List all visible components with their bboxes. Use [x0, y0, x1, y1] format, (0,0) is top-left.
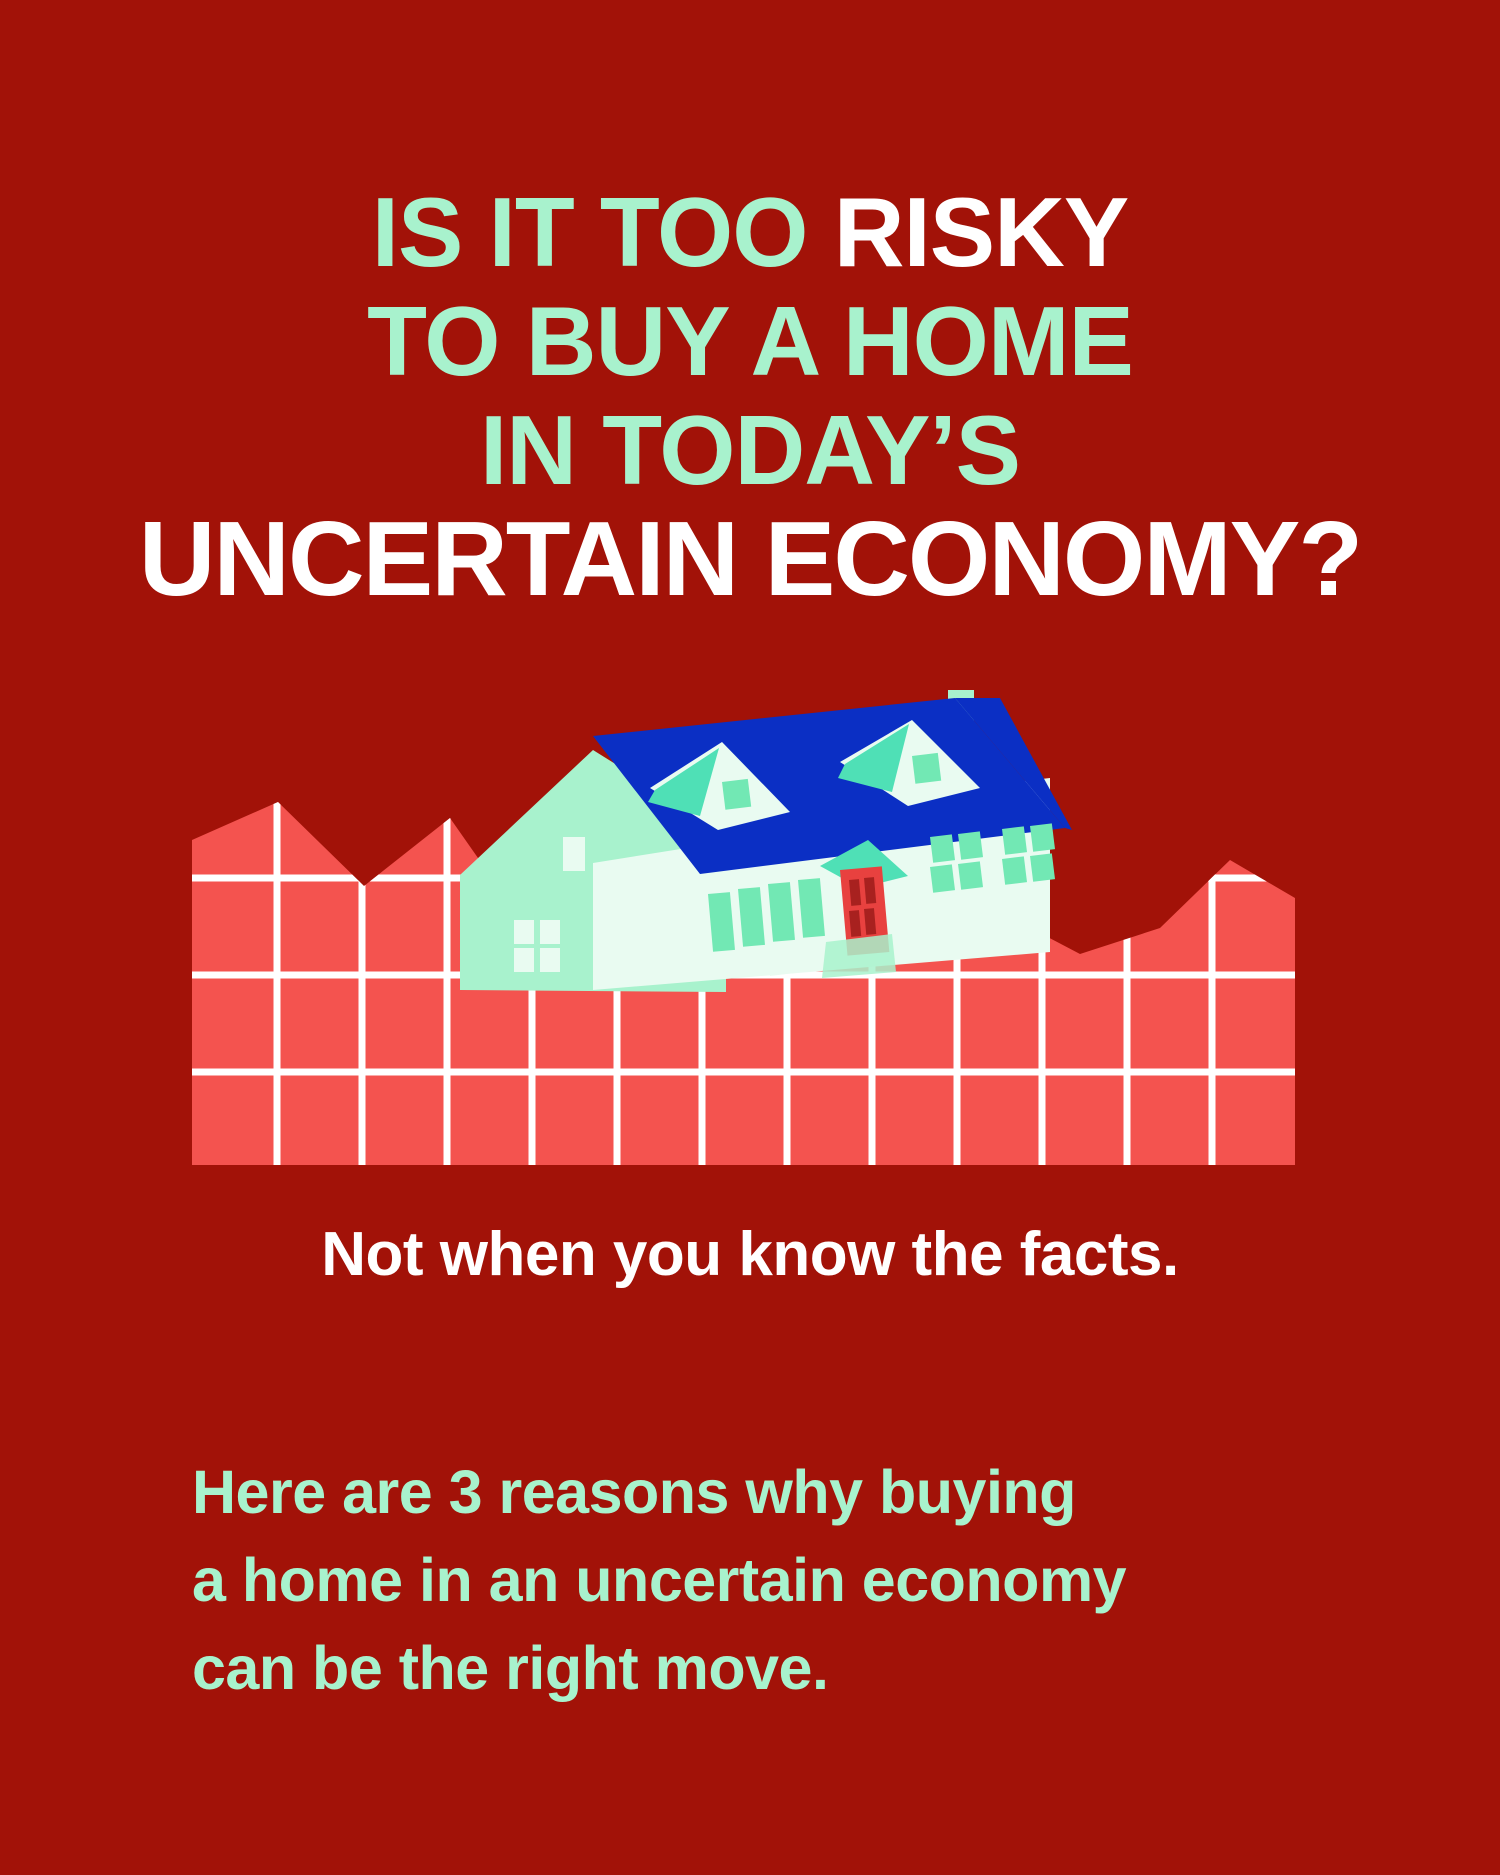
- house-attic-window: [563, 837, 585, 871]
- headline-line-1-mint: IS IT TOO: [372, 177, 834, 287]
- body-line-2: a home in an uncertain economy: [192, 1536, 1372, 1624]
- body-line-1: Here are 3 reasons why buying: [192, 1448, 1372, 1536]
- page-title: IS IT TOO RISKY TO BUY A HOME IN TODAY’S…: [0, 178, 1500, 614]
- headline-line-1: IS IT TOO RISKY: [0, 178, 1500, 287]
- headline-line-3: IN TODAY’S: [0, 396, 1500, 505]
- headline-line-2: TO BUY A HOME: [0, 287, 1500, 396]
- body-copy: Here are 3 reasons why buying a home in …: [192, 1448, 1372, 1712]
- house-illustration: [460, 690, 1072, 992]
- subline: Not when you know the facts.: [0, 1218, 1500, 1292]
- poster-canvas: IS IT TOO RISKY TO BUY A HOME IN TODAY’S…: [0, 0, 1500, 1875]
- headline-line-4: UNCERTAIN ECONOMY?: [0, 505, 1500, 614]
- headline-line-1-white: RISKY: [834, 177, 1129, 287]
- body-line-3: can be the right move.: [192, 1624, 1372, 1712]
- illustration-group: [0, 690, 1500, 1190]
